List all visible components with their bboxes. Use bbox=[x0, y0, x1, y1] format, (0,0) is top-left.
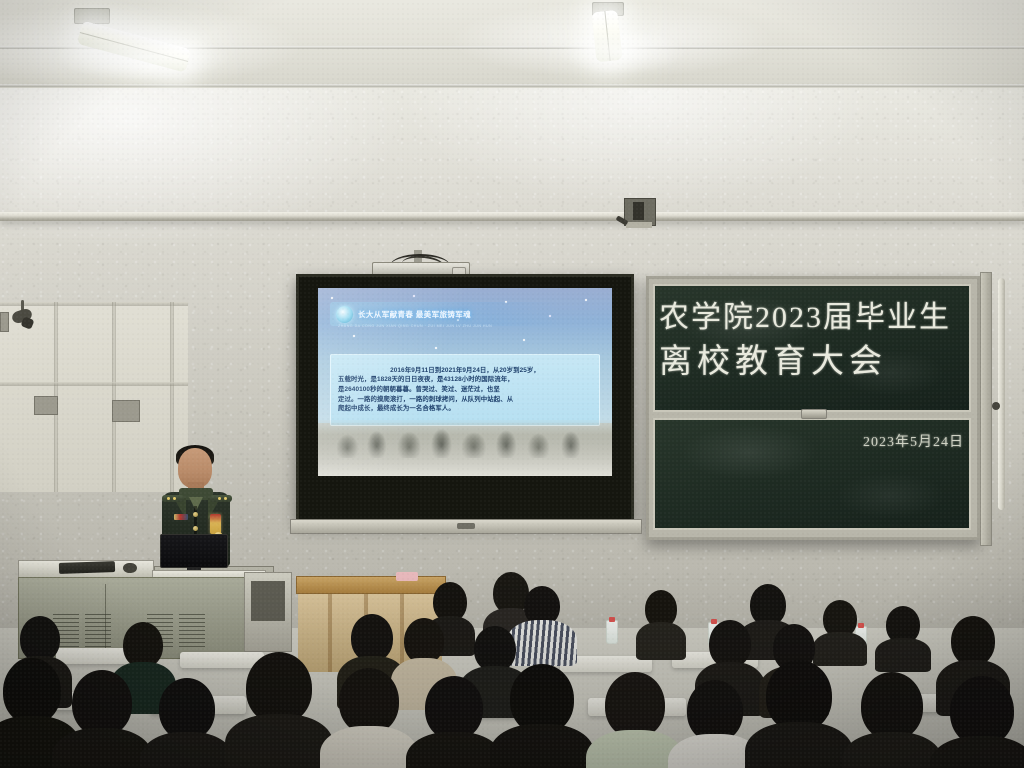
audience-area bbox=[0, 560, 1024, 768]
army-emblem-icon bbox=[336, 306, 353, 323]
audience-member bbox=[596, 672, 674, 768]
slide-banner: 长大从军献青春 最美军旅铸军魂 bbox=[330, 302, 560, 326]
audience-member bbox=[62, 670, 142, 768]
audience-member bbox=[940, 676, 1024, 768]
ceiling-seam bbox=[0, 84, 1024, 87]
wall-ledge bbox=[0, 212, 1024, 221]
blackboard-date: 2023年5月24日 bbox=[863, 431, 964, 451]
slide-line: 爬起中成长，最终成长为一名合格军人。 bbox=[338, 405, 592, 413]
conduit-pipe bbox=[0, 312, 9, 332]
lecture-hall-photo: 农学院2023届毕业生 离校教育大会 2023年5月24日 长大从军献青春 最美… bbox=[0, 0, 1024, 768]
screen-pull-knob[interactable] bbox=[457, 523, 475, 529]
audience-member bbox=[852, 672, 932, 768]
slide-line: 定过。一路的摸爬滚打，一路的刺球拷问，从队列中站起、从 bbox=[338, 396, 592, 404]
wall-speaker-icon bbox=[624, 198, 654, 234]
slide-line: 是2640100秒的朝朝暮暮。曾哭过、笑过、迷茫过，也坚 bbox=[338, 386, 592, 394]
officer-epaulette-right bbox=[210, 495, 232, 502]
blackboard: 农学院2023届毕业生 离校教育大会 2023年5月24日 bbox=[646, 276, 980, 540]
blackboard-title-line1: 农学院2023届毕业生 bbox=[659, 292, 951, 336]
audience-member bbox=[416, 676, 492, 768]
wall-pipe-right bbox=[998, 278, 1005, 510]
chalk-tray-clip bbox=[801, 409, 827, 419]
audience-member bbox=[756, 660, 842, 768]
fluorescent-tube-left-icon bbox=[62, 8, 192, 70]
electrical-box bbox=[34, 396, 58, 415]
slide-banner-subtitle: ZHANG DA CONG JUN XIAN QING CHUN · ZUI M… bbox=[338, 324, 556, 328]
slide-line: 2016年9月11日到2021年9月24日，从20岁到25岁， bbox=[338, 367, 592, 375]
slide-text-block: 2016年9月11日到2021年9月24日，从20岁到25岁， 五载时光，是18… bbox=[330, 354, 600, 426]
audience-member bbox=[330, 668, 408, 768]
slide-photo-smoke bbox=[318, 435, 612, 476]
projection-screen: 长大从军献青春 最美军旅铸军魂 ZHANG DA CONG JUN XIAN Q… bbox=[296, 274, 634, 522]
slide-line: 五载时光，是1828天的日日夜夜，是43128小时的国际流年， bbox=[338, 376, 592, 384]
audience-member bbox=[880, 606, 926, 664]
audience-member bbox=[818, 600, 862, 660]
slide-banner-title: 长大从军献青春 最美军旅铸军魂 bbox=[358, 309, 471, 320]
audience-member bbox=[236, 652, 322, 768]
blackboard-side-post bbox=[980, 272, 992, 546]
slide-content: 长大从军献青春 最美军旅铸军魂 ZHANG DA CONG JUN XIAN Q… bbox=[318, 288, 612, 476]
audience-member bbox=[150, 678, 224, 768]
audience-member bbox=[678, 680, 752, 768]
audience-member bbox=[500, 664, 584, 768]
electrical-box bbox=[112, 400, 140, 422]
pipe-clip bbox=[992, 402, 1000, 410]
screen-bottom-rail bbox=[290, 519, 642, 534]
audience-member bbox=[640, 590, 682, 654]
officer-medal bbox=[210, 514, 221, 534]
blackboard-title-line2: 离校教育大会 bbox=[659, 334, 887, 382]
officer-ribbon-bar bbox=[174, 514, 188, 520]
fluorescent-tube-right-icon bbox=[578, 2, 658, 64]
wall-camera-icon bbox=[10, 300, 36, 334]
